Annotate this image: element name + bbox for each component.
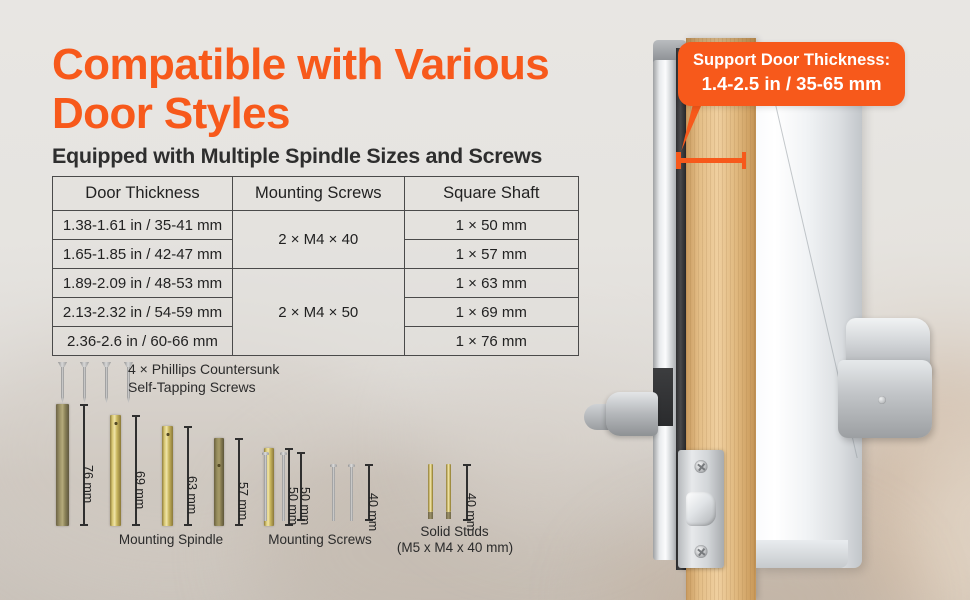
page-subtitle: Equipped with Multiple Spindle Sizes and… (52, 144, 542, 169)
cell-door-thickness: 1.89-2.09 in / 48-53 mm (53, 269, 233, 298)
spindle-76mm (56, 404, 69, 526)
parts-diagram: 4 × Phillips Countersunk Self-Tapping Sc… (0, 352, 600, 600)
spindle-57mm (214, 438, 224, 526)
cell-mounting-screws: 2 × M4 × 50 (232, 269, 404, 356)
cell-square-shaft: 1 × 57 mm (404, 240, 578, 269)
lever-screw-icon (878, 396, 886, 404)
faceplate-screw-icon (695, 460, 708, 473)
spindle-69mm (110, 415, 121, 526)
latch-faceplate (678, 450, 724, 568)
mounting-screw-50mm (280, 452, 287, 521)
spindle-63mm (162, 426, 173, 526)
compatibility-table: Door Thickness Mounting Screws Square Sh… (52, 176, 579, 356)
callout-line-2: 1.4-2.5 in / 35-65 mm (693, 73, 890, 95)
faceplate-screw-icon (695, 545, 708, 558)
label-mounting-spindle: Mounting Spindle (56, 532, 286, 547)
dimension-label: 40 mm (366, 493, 380, 531)
countersunk-screw-icon (80, 362, 89, 403)
dimension-label: 50 mm (298, 487, 312, 525)
table-header-square-shaft: Square Shaft (404, 177, 578, 211)
latch-bolt (686, 492, 716, 526)
table-row: 1.38-1.61 in / 35-41 mm 2 × M4 × 40 1 × … (53, 211, 579, 240)
table-header-door-thickness: Door Thickness (53, 177, 233, 211)
dimension-label: 69 mm (133, 471, 147, 509)
table-header-row: Door Thickness Mounting Screws Square Sh… (53, 177, 579, 211)
countersunk-screw-icon (58, 362, 67, 403)
countersunk-screw-icon (102, 362, 111, 403)
callout-line-1: Support Door Thickness: (693, 51, 890, 71)
table-header-mounting-screws: Mounting Screws (232, 177, 404, 211)
solid-stud-icon (446, 464, 451, 519)
mounting-screw-50mm (262, 452, 269, 521)
cell-square-shaft: 1 × 63 mm (404, 269, 578, 298)
cell-mounting-screws: 2 × M4 × 40 (232, 211, 404, 269)
cell-square-shaft: 1 × 69 mm (404, 298, 578, 327)
countersunk-screws-note: 4 × Phillips Countersunk Self-Tapping Sc… (128, 360, 279, 397)
mounting-screw-40mm (330, 464, 337, 521)
lock-body-foot (756, 540, 848, 568)
label-mounting-screws: Mounting Screws (255, 532, 385, 547)
dimension-label: 76 mm (81, 465, 95, 503)
label-solid-studs-spec: (M5 x M4 x 40 mm) (380, 540, 530, 555)
dimension-label: 57 mm (236, 482, 250, 520)
dimension-label: 63 mm (185, 476, 199, 514)
mounting-screw-40mm (348, 464, 355, 521)
cell-door-thickness: 1.38-1.61 in / 35-41 mm (53, 211, 233, 240)
cell-door-thickness: 2.13-2.32 in / 54-59 mm (53, 298, 233, 327)
solid-stud-icon (428, 464, 433, 519)
infographic-canvas: Compatible with Various Door Styles Equi… (0, 0, 970, 600)
cell-door-thickness: 1.65-1.85 in / 42-47 mm (53, 240, 233, 269)
label-solid-studs: Solid Studs (392, 524, 517, 539)
page-title: Compatible with Various Door Styles (52, 40, 549, 139)
table-row: 1.89-2.09 in / 48-53 mm 2 × M4 × 50 1 × … (53, 269, 579, 298)
door-thickness-dimension-line (676, 152, 746, 166)
cell-square-shaft: 1 × 50 mm (404, 211, 578, 240)
interior-lever-handle (606, 392, 658, 436)
door-thickness-callout: Support Door Thickness: 1.4-2.5 in / 35-… (678, 42, 905, 106)
